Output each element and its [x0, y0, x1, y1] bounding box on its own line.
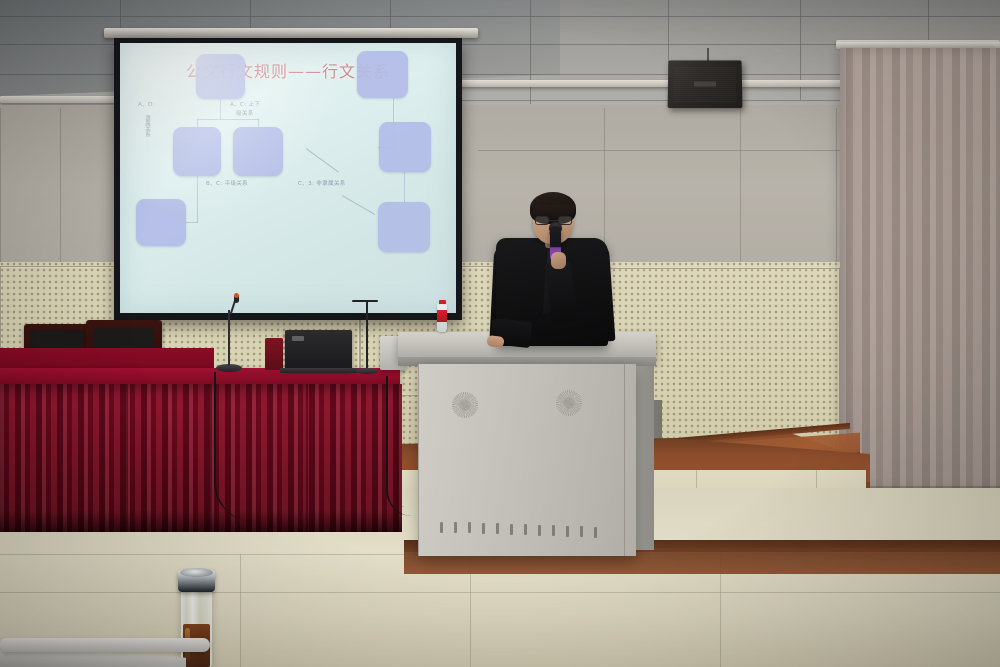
podium-vent	[510, 524, 513, 535]
diagram-node	[136, 199, 186, 246]
presenter-hand-right	[551, 252, 566, 269]
diagram-node	[233, 127, 283, 176]
diagram-node	[173, 127, 221, 176]
laptop-brand-logo	[292, 336, 304, 341]
table-skirt	[0, 384, 402, 532]
mic-stand-pole-right	[366, 300, 368, 372]
desk-mic-neck-left	[228, 310, 230, 366]
presenter-hand-left	[486, 335, 504, 348]
podium-vent	[538, 525, 541, 536]
podium-vent	[524, 524, 527, 535]
mic-stand-arm-right	[352, 300, 378, 302]
label-upper-right-line2: 级关系	[236, 109, 254, 117]
connector-vertical	[220, 99, 221, 119]
podium-vent	[594, 527, 597, 538]
diagram-node	[378, 202, 430, 252]
connector-diagonal-lower	[342, 195, 376, 215]
podium-speaker-grille-left	[452, 392, 478, 418]
foreground-rail	[0, 638, 210, 652]
label-left-top: A、D:	[138, 100, 155, 108]
laptop-base	[280, 368, 358, 373]
podium-body	[418, 364, 636, 556]
wall-speaker-icon	[668, 60, 743, 108]
red-object-on-table	[265, 338, 283, 370]
connector-to-lower-left	[186, 222, 198, 223]
diagram-node	[196, 54, 245, 99]
connector-right-vertical-bottom	[404, 172, 405, 203]
podium-vent	[496, 523, 499, 534]
projection-screen: 公文行文规则——行文关系 A、D: 隶属关系 A、C: 上下	[120, 43, 456, 313]
table-top-left	[0, 348, 214, 370]
podium-vent	[552, 525, 555, 536]
diagram-node	[379, 122, 431, 172]
label-bottom-center: B、C: 平级关系	[206, 179, 248, 187]
podium-vent	[566, 526, 569, 537]
floor-cable	[386, 376, 412, 516]
projector-screen-housing	[104, 28, 478, 38]
table-cable	[214, 372, 254, 522]
desk-mic-tip-left	[234, 293, 239, 298]
connector-down-left	[197, 176, 198, 223]
connector-horizontal	[197, 119, 259, 120]
podium-vent	[454, 522, 457, 533]
label-left-vertical: 隶属关系	[142, 115, 151, 137]
window-curtain[interactable]	[840, 48, 1000, 492]
connector-diagonal-upper	[306, 148, 339, 173]
podium-vent	[580, 526, 583, 537]
mic-stand-base-right	[356, 368, 378, 374]
podium-vent	[440, 522, 443, 533]
tumbler-lid-top	[180, 568, 213, 577]
podium-vent	[468, 522, 471, 533]
projection-screen-frame: 公文行文规则——行文关系 A、D: 隶属关系 A、C: 上下	[114, 38, 462, 320]
label-upper-right-line1: A、C: 上下	[230, 100, 260, 108]
speaker-badge	[694, 82, 716, 87]
podium-vent	[482, 523, 485, 534]
label-bottom-right: C、3: 非隶属关系	[298, 179, 346, 187]
podium-speaker-grille-right	[556, 390, 582, 416]
bottle-label	[437, 310, 447, 322]
lecture-hall-photo: 公文行文规则——行文关系 A、D: 隶属关系 A、C: 上下	[0, 0, 1000, 667]
diagram-node	[357, 51, 408, 98]
